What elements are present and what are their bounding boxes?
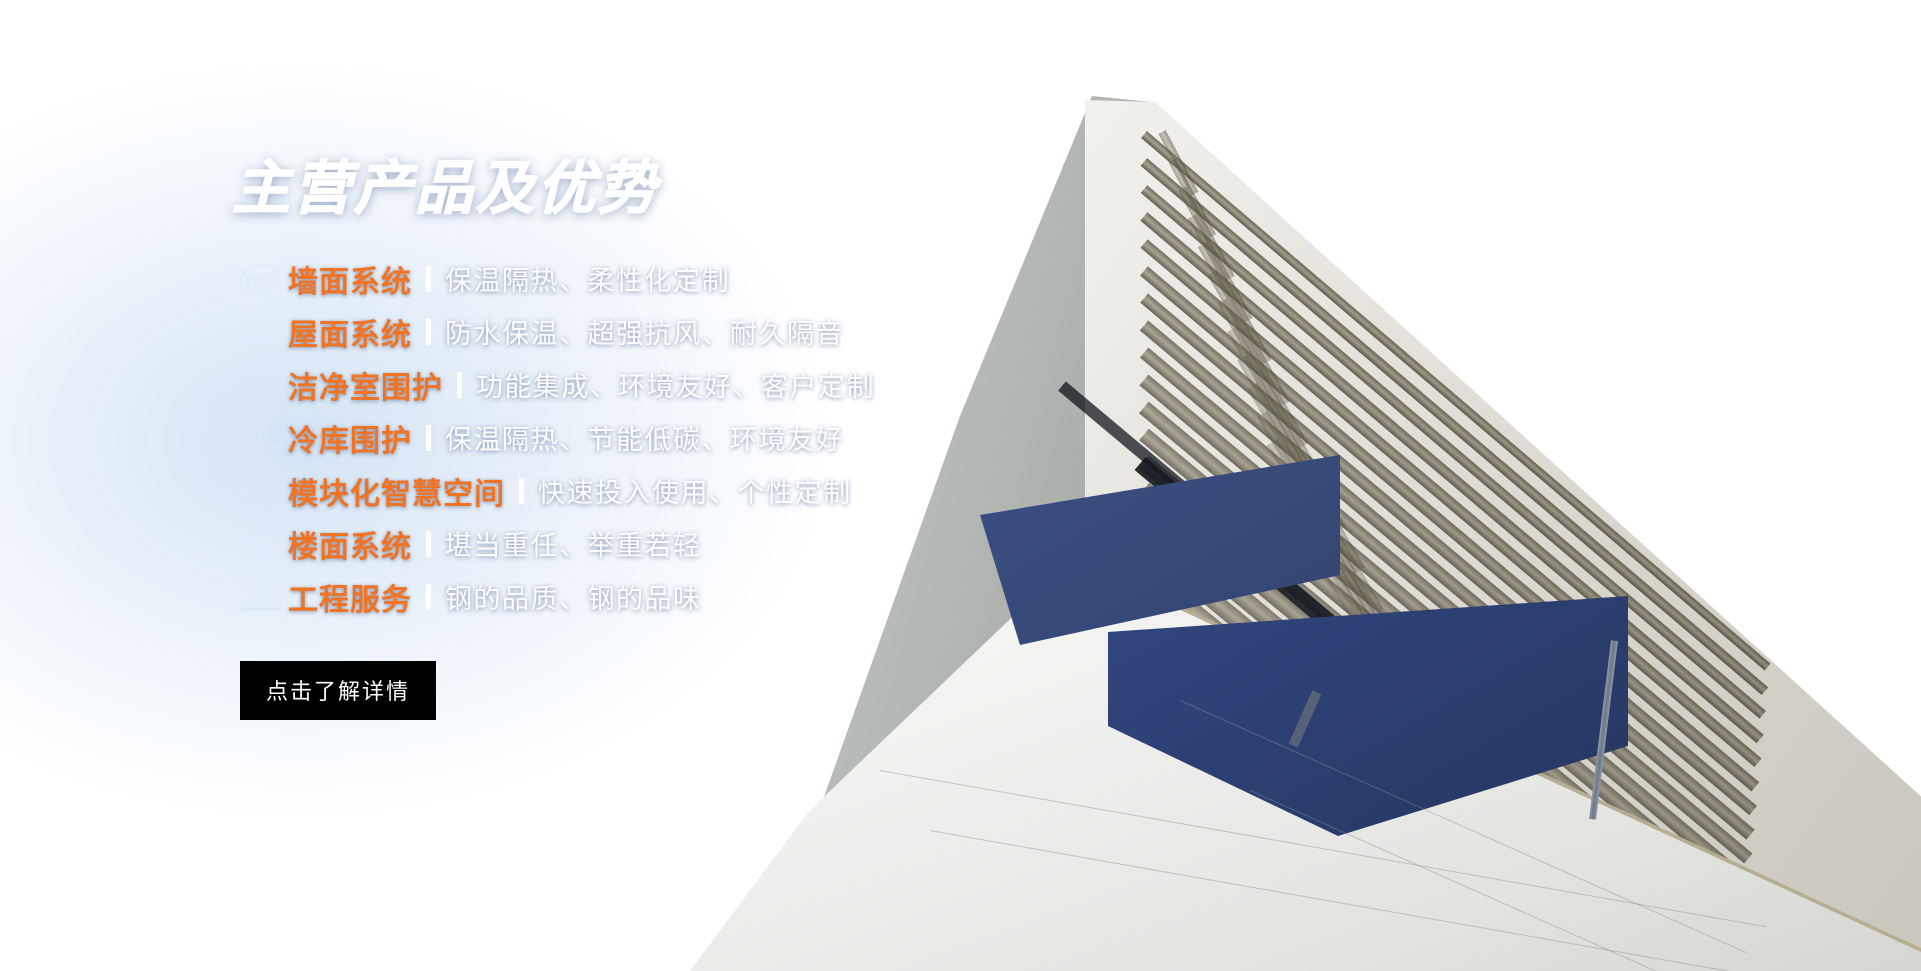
promo-banner: 主营产品及优势 墙面系统保温隔热、柔性化定制屋面系统防水保温、超强抗风、耐久隔音… [0, 0, 1921, 971]
title-separator [426, 319, 431, 345]
product-item[interactable]: 模块化智慧空间快速投入使用、个性定制 [232, 464, 1232, 517]
title-separator [426, 584, 431, 610]
title-separator [426, 531, 431, 557]
product-item[interactable]: 冷库围护保温隔热、节能低碳、环境友好 [232, 411, 1232, 464]
modular-cube-icon [232, 470, 288, 512]
product-description: 快速投入使用、个性定制 [538, 471, 852, 510]
learn-more-button[interactable]: 点击了解详情 [240, 661, 436, 720]
product-title: 楼面系统 [288, 522, 412, 566]
product-description: 堪当重任、举重若轻 [445, 524, 702, 563]
roof-panel-icon [232, 311, 288, 353]
banner-content: 主营产品及优势 墙面系统保温隔热、柔性化定制屋面系统防水保温、超强抗风、耐久隔音… [232, 160, 1232, 720]
product-list: 墙面系统保温隔热、柔性化定制屋面系统防水保温、超强抗风、耐久隔音洁净室围护功能集… [232, 252, 1232, 623]
product-item[interactable]: 工程服务钢的品质、钢的品味 [232, 570, 1232, 623]
product-title: 洁净室围护 [288, 363, 443, 407]
product-description: 保温隔热、节能低碳、环境友好 [445, 418, 844, 457]
engineering-service-icon [232, 576, 288, 618]
product-description: 功能集成、环境友好、客户定制 [476, 365, 875, 404]
product-title: 模块化智慧空间 [288, 469, 505, 513]
product-item[interactable]: 洁净室围护功能集成、环境友好、客户定制 [232, 358, 1232, 411]
floor-deck-icon [232, 523, 288, 565]
product-title: 冷库围护 [288, 416, 412, 460]
wall-panel-icon [232, 258, 288, 300]
title-separator [457, 372, 462, 398]
product-description: 保温隔热、柔性化定制 [445, 259, 730, 298]
product-title: 墙面系统 [288, 257, 412, 301]
cold-storage-icon [232, 417, 288, 459]
product-item[interactable]: 墙面系统保温隔热、柔性化定制 [232, 252, 1232, 305]
product-description: 防水保温、超强抗风、耐久隔音 [445, 312, 844, 351]
page-title: 主营产品及优势 [232, 160, 1232, 218]
title-separator [519, 478, 524, 504]
product-description: 钢的品质、钢的品味 [445, 577, 702, 616]
cleanroom-building-icon [232, 364, 288, 406]
product-title: 工程服务 [288, 575, 412, 619]
product-title: 屋面系统 [288, 310, 412, 354]
title-separator [426, 266, 431, 292]
product-item[interactable]: 屋面系统防水保温、超强抗风、耐久隔音 [232, 305, 1232, 358]
product-item[interactable]: 楼面系统堪当重任、举重若轻 [232, 517, 1232, 570]
title-separator [426, 425, 431, 451]
